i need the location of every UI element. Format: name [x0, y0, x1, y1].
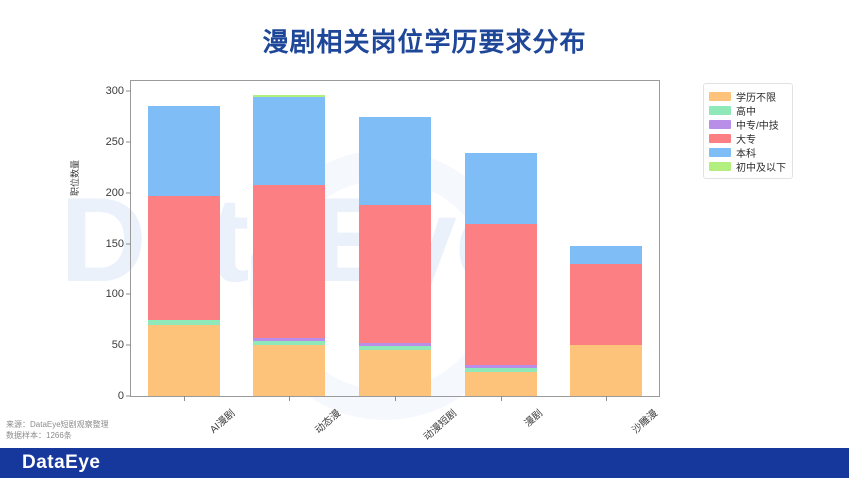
legend-swatch-icon [709, 162, 731, 171]
x-axis-tick-mark [606, 396, 607, 401]
chart-title: 漫剧相关岗位学历要求分布 [0, 22, 849, 59]
x-axis-tick-mark [289, 396, 290, 401]
brand-logo: DataEye [22, 452, 101, 474]
y-axis-tick-mark [126, 294, 131, 295]
bar-stack[interactable] [148, 106, 220, 396]
x-axis-tick-mark [184, 396, 185, 401]
bar-segment[interactable] [253, 338, 325, 341]
bar-segment[interactable] [148, 106, 220, 195]
y-axis-tick-label: 300 [106, 85, 124, 97]
x-axis-tick-label: 沙雕漫 [628, 405, 660, 436]
bar-stack[interactable] [465, 153, 537, 396]
legend-item-label: 大专 [736, 131, 756, 146]
bar-segment[interactable] [570, 264, 642, 345]
bar-segment[interactable] [465, 365, 537, 368]
legend-item-label: 中专/中技 [736, 117, 779, 132]
y-axis-tick-mark [126, 243, 131, 244]
x-axis-tick-label: AI漫剧 [205, 405, 237, 436]
y-axis-tick-label: 150 [106, 238, 124, 250]
y-axis-tick-mark [126, 345, 131, 346]
legend-item-label: 学历不限 [736, 89, 776, 104]
legend-swatch-icon [709, 120, 731, 129]
source-note: 来源：DataEye短剧观察整理 数据样本：1266条 [6, 419, 109, 441]
bar-segment[interactable] [253, 97, 325, 184]
plot-area: 050100150200250300AI漫剧动态漫动漫短剧漫剧沙雕漫 [130, 80, 660, 397]
bar-segment[interactable] [253, 185, 325, 338]
y-axis-tick-label: 200 [106, 187, 124, 199]
bar-segment[interactable] [359, 117, 431, 205]
source-line-2: 数据样本：1266条 [6, 430, 109, 441]
legend: 学历不限高中中专/中技大专本科初中及以下 [703, 83, 793, 179]
bar-segment[interactable] [359, 205, 431, 343]
legend-item-label: 本科 [736, 145, 756, 160]
y-axis-tick-mark [126, 192, 131, 193]
bar-segment[interactable] [359, 343, 431, 346]
legend-swatch-icon [709, 92, 731, 101]
bar-stack[interactable] [253, 95, 325, 396]
plot-inner: 050100150200250300AI漫剧动态漫动漫短剧漫剧沙雕漫 [131, 81, 659, 396]
bar-segment[interactable] [465, 372, 537, 396]
y-axis-tick-mark [126, 91, 131, 92]
source-line-1: 来源：DataEye短剧观察整理 [6, 419, 109, 430]
y-axis-tick-label: 100 [106, 288, 124, 300]
footer-bar: DataEye [0, 448, 849, 478]
bar-stack[interactable] [359, 117, 431, 396]
bar-segment[interactable] [359, 346, 431, 350]
legend-item[interactable]: 大专 [709, 131, 786, 145]
y-axis-tick-mark [126, 141, 131, 142]
bar-segment[interactable] [148, 196, 220, 320]
legend-item[interactable]: 高中 [709, 103, 786, 117]
legend-item[interactable]: 本科 [709, 145, 786, 159]
bar-segment[interactable] [148, 325, 220, 396]
bar-segment[interactable] [148, 320, 220, 325]
y-axis-tick-label: 50 [112, 339, 124, 351]
bar-segment[interactable] [570, 345, 642, 396]
legend-item[interactable]: 初中及以下 [709, 159, 786, 173]
x-axis-tick-mark [395, 396, 396, 401]
bar-segment[interactable] [570, 246, 642, 264]
bar-segment[interactable] [359, 350, 431, 396]
legend-swatch-icon [709, 106, 731, 115]
y-axis-label: 职位数量 [68, 96, 81, 196]
legend-swatch-icon [709, 148, 731, 157]
legend-item-label: 高中 [736, 103, 756, 118]
legend-item-label: 初中及以下 [736, 159, 786, 174]
legend-item[interactable]: 中专/中技 [709, 117, 786, 131]
bar-segment[interactable] [465, 153, 537, 224]
y-axis-tick-label: 0 [118, 390, 124, 402]
x-axis-tick-label: 动漫短剧 [419, 405, 459, 443]
legend-item[interactable]: 学历不限 [709, 89, 786, 103]
y-axis-tick-label: 250 [106, 136, 124, 148]
x-axis-tick-label: 动态漫 [311, 405, 343, 436]
bar-stack[interactable] [570, 246, 642, 396]
bar-segment[interactable] [465, 368, 537, 372]
x-axis-tick-label: 漫剧 [520, 405, 545, 430]
bar-segment[interactable] [465, 224, 537, 364]
bar-segment[interactable] [253, 345, 325, 396]
y-axis-tick-mark [126, 396, 131, 397]
x-axis-tick-mark [501, 396, 502, 401]
bar-segment[interactable] [253, 95, 325, 97]
legend-swatch-icon [709, 134, 731, 143]
bar-segment[interactable] [253, 341, 325, 345]
